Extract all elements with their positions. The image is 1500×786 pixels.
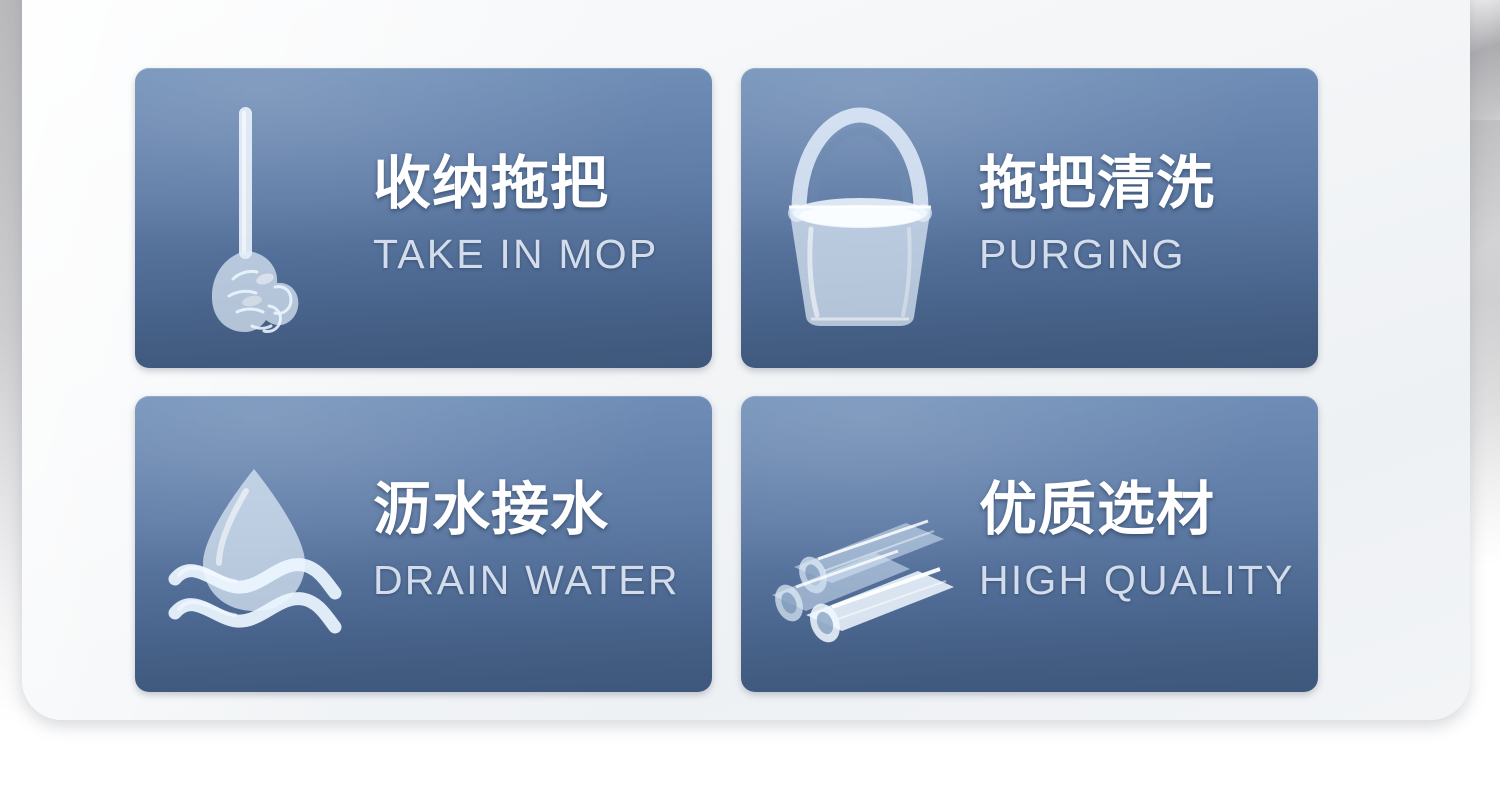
water-drop-icon xyxy=(135,396,373,692)
card-title-en: DRAIN WATER xyxy=(373,558,680,602)
card-title-cn: 拖把清洗 xyxy=(979,154,1215,214)
card-title-cn: 沥水接水 xyxy=(373,480,680,540)
card-text-purging: 拖把清洗 PURGING xyxy=(979,154,1215,282)
product-feature-banner: 收纳拖把 TAKE IN MOP xyxy=(0,0,1500,786)
feature-card-drain-water[interactable]: 沥水接水 DRAIN WATER xyxy=(135,396,712,692)
feature-card-purging[interactable]: 拖把清洗 PURGING xyxy=(741,68,1318,368)
feature-card-grid: 收纳拖把 TAKE IN MOP xyxy=(135,68,1315,693)
bucket-icon xyxy=(741,68,979,368)
card-title-en: HIGH QUALITY xyxy=(979,558,1295,602)
card-title-cn: 优质选材 xyxy=(979,480,1295,540)
pipes-icon xyxy=(741,396,979,692)
mop-icon xyxy=(135,68,373,368)
feature-card-high-quality[interactable]: 优质选材 HIGH QUALITY xyxy=(741,396,1318,692)
card-title-en: PURGING xyxy=(979,232,1215,276)
card-text-take-in-mop: 收纳拖把 TAKE IN MOP xyxy=(373,154,658,282)
card-title-en: TAKE IN MOP xyxy=(373,232,658,276)
card-title-cn: 收纳拖把 xyxy=(373,154,658,214)
card-text-drain-water: 沥水接水 DRAIN WATER xyxy=(373,480,680,608)
feature-card-take-in-mop[interactable]: 收纳拖把 TAKE IN MOP xyxy=(135,68,712,368)
card-text-high-quality: 优质选材 HIGH QUALITY xyxy=(979,480,1295,608)
